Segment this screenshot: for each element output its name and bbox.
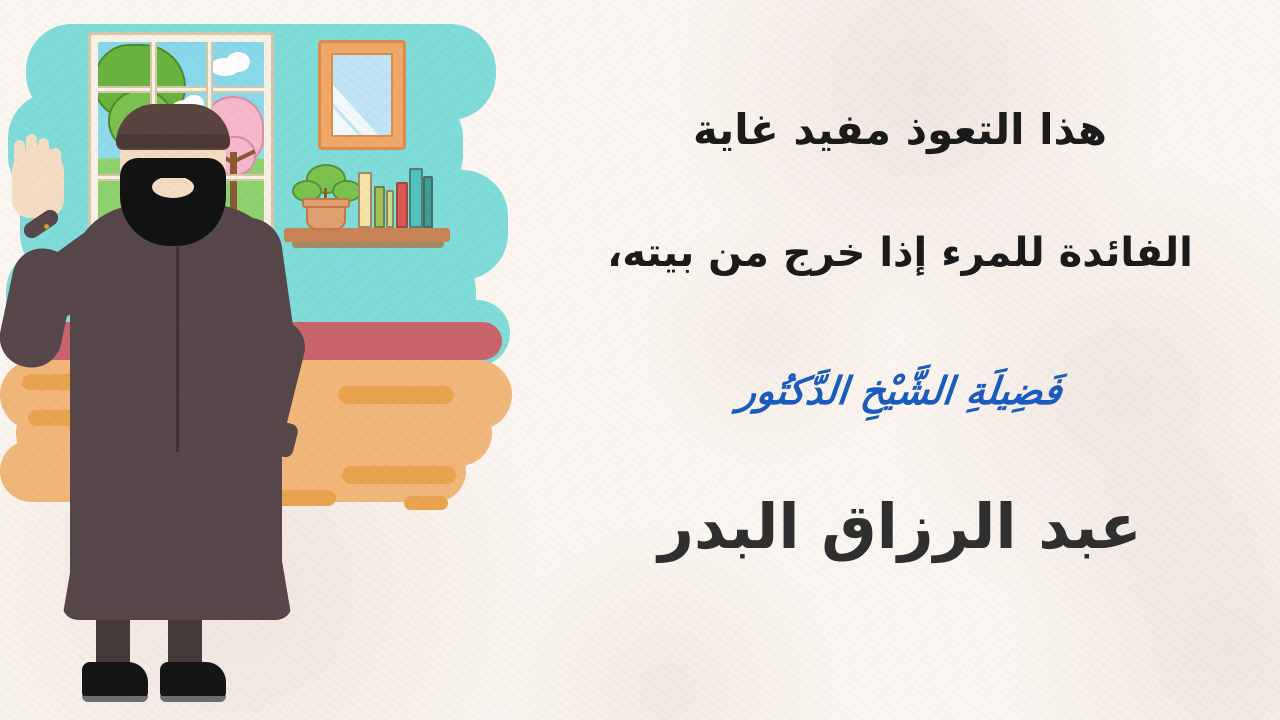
illustration-scene xyxy=(0,0,560,720)
window-mullion-horizontal-1 xyxy=(98,86,264,93)
cloud-icon-1b xyxy=(226,52,250,72)
book-red xyxy=(396,182,408,228)
floor-plank-7 xyxy=(404,496,448,510)
book-cream xyxy=(358,172,372,228)
hand-finger-1 xyxy=(14,140,25,170)
book-darkteal xyxy=(423,176,433,228)
book-green-2 xyxy=(386,190,394,228)
floor-plank-4 xyxy=(342,466,456,484)
wall-shelf xyxy=(284,228,450,242)
hand-finger-3 xyxy=(38,138,49,170)
kufi-cap-band xyxy=(116,134,230,148)
lip-gap xyxy=(152,176,194,198)
speaker-title: فَضِيلَةِ الشَّيْخِ الدَّكتُور xyxy=(518,368,1280,413)
shoe-sole-left xyxy=(82,696,148,702)
hand-finger-2 xyxy=(26,134,37,168)
speaker-name: عبد الرزاق البدر xyxy=(520,490,1280,563)
mirror-glass xyxy=(331,53,393,137)
hand-finger-4 xyxy=(50,148,61,174)
quote-line-1: هذا التعوذ مفيد غاية xyxy=(520,108,1280,152)
plant-pot-rim xyxy=(302,198,350,208)
shoe-sole-right xyxy=(160,696,226,702)
mirror xyxy=(318,40,406,150)
quote-line-2: الفائدة للمرء إذا خرج من بيته، xyxy=(520,232,1280,274)
cuff-button-left xyxy=(44,224,49,229)
book-teal xyxy=(409,168,423,228)
thobe-placket xyxy=(176,222,179,452)
page-canvas: هذا التعوذ مفيد غاية الفائدة للمرء إذا خ… xyxy=(0,0,1280,720)
thobe-skirt xyxy=(62,430,292,620)
text-column: هذا التعوذ مفيد غاية الفائدة للمرء إذا خ… xyxy=(520,0,1280,720)
wall-shelf-shadow xyxy=(292,242,444,248)
floor-plank-2 xyxy=(338,386,454,404)
book-green xyxy=(374,186,385,228)
mustache xyxy=(142,162,204,178)
